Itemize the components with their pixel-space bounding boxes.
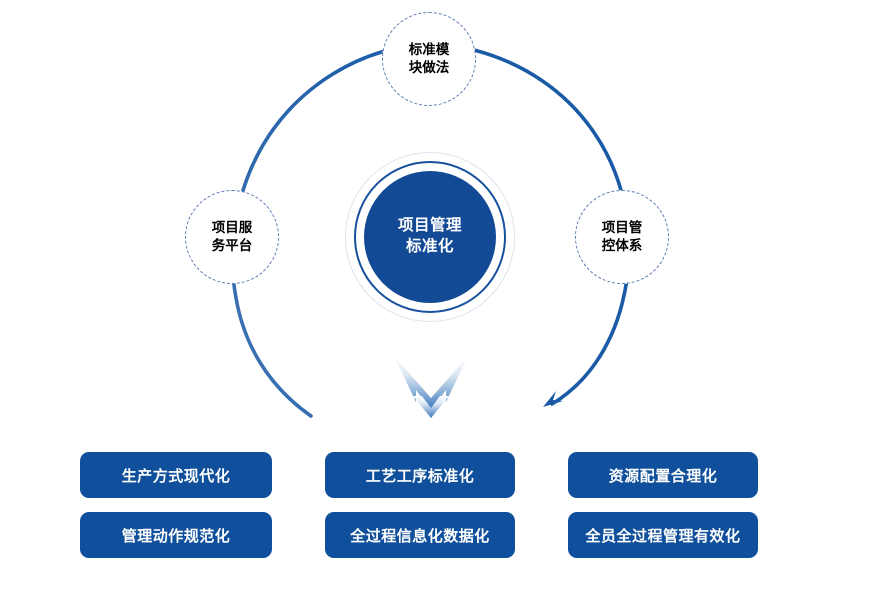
node-top-standard-module[interactable]: 标准模 块做法	[382, 12, 476, 106]
outcome-pill-grid: 生产方式现代化 工艺工序标准化 资源配置合理化 管理动作规范化 全过程信息化数据…	[80, 452, 758, 558]
node-right-label: 项目管 控体系	[602, 219, 643, 255]
down-arrow-icon	[386, 352, 476, 428]
node-left-service-platform[interactable]: 项目服 务平台	[185, 190, 279, 284]
node-right-control-system[interactable]: 项目管 控体系	[575, 190, 669, 284]
arc-arrowhead	[543, 391, 563, 407]
center-hub: 项目管理 标准化	[345, 152, 517, 324]
center-label: 项目管理 标准化	[398, 216, 462, 258]
standardization-diagram: 项目管理 标准化 标准模 块做法 项目服 务平台 项目管 控体系 生产方式现代化…	[0, 0, 884, 590]
node-left-label: 项目服 务平台	[212, 219, 253, 255]
pill-all-staff-effectiveness[interactable]: 全员全过程管理有效化	[568, 512, 758, 558]
pill-resource-allocation[interactable]: 资源配置合理化	[568, 452, 758, 498]
pill-management-standardization[interactable]: 管理动作规范化	[80, 512, 272, 558]
pill-process-standardization[interactable]: 工艺工序标准化	[325, 452, 515, 498]
hub-disc: 项目管理 标准化	[364, 171, 496, 303]
node-top-label: 标准模 块做法	[409, 41, 450, 77]
pill-full-process-digitalization[interactable]: 全过程信息化数据化	[325, 512, 515, 558]
pill-production-modernization[interactable]: 生产方式现代化	[80, 452, 272, 498]
